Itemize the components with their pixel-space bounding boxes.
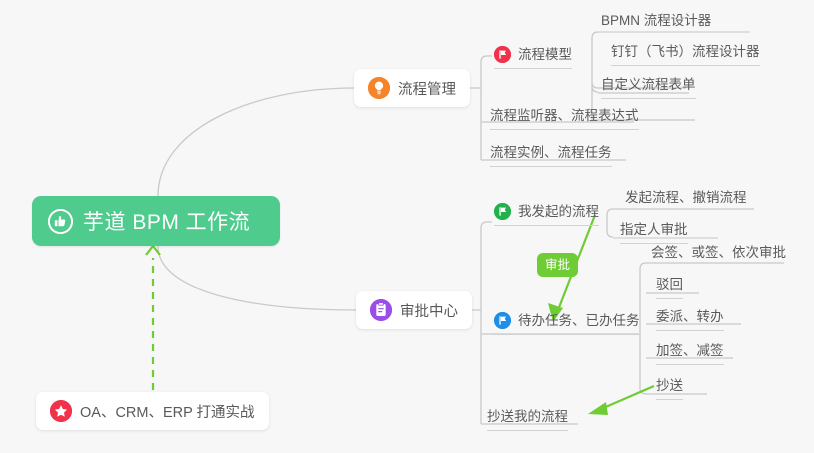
- node-label-wo-faqi: 我发起的流程: [518, 203, 599, 220]
- flag-icon: [494, 312, 511, 329]
- branch-node-liucheng-guanli[interactable]: 流程管理: [354, 69, 470, 107]
- node-liucheng-shili[interactable]: 流程实例、流程任务: [490, 144, 612, 167]
- node-label-liucheng-shili: 流程实例、流程任务: [490, 145, 612, 160]
- leaf-label-huiqian: 会签、或签、依次审批: [651, 245, 786, 260]
- leaf-bohui[interactable]: 驳回: [656, 276, 683, 299]
- node-daiban-renwu[interactable]: 待办任务、已办任务: [494, 312, 640, 335]
- leaf-label-bpmn-designer: BPMN 流程设计器: [601, 13, 711, 28]
- branch-node-shenpi-zhongxin[interactable]: 审批中心: [356, 291, 472, 329]
- thumbs-up-icon: [48, 209, 73, 234]
- link-spzx-to-wofaqi: [481, 222, 492, 228]
- leaf-label-bohui: 驳回: [656, 277, 683, 292]
- flag-icon: [494, 203, 511, 220]
- node-label-daiban-renwu: 待办任务、已办任务: [518, 312, 640, 329]
- approval-badge: 审批: [537, 253, 578, 277]
- arrow-chaosong-flow: [588, 386, 654, 415]
- star-icon: [50, 400, 72, 422]
- lightbulb-icon: [368, 77, 390, 99]
- footer-node-label: OA、CRM、ERP 打通实战: [80, 401, 255, 422]
- leaf-custom-form[interactable]: 自定义流程表单: [601, 76, 696, 99]
- leaf-label-zhiding-ren-shenpi: 指定人审批: [620, 222, 688, 237]
- link-root-to-liucheng-guanli: [158, 88, 354, 196]
- branch-label-liucheng-guanli: 流程管理: [398, 78, 456, 99]
- leaf-label-dingtalk-designer: 钉钉（飞书）流程设计器: [611, 44, 760, 59]
- root-label: 芋道 BPM 工作流: [83, 206, 250, 236]
- link-lcgl-to-moxing: [481, 56, 492, 62]
- link-root-to-shenpi-zhongxin: [158, 246, 356, 310]
- link-daiban-spine: [640, 263, 646, 394]
- node-label-chaosong-wode: 抄送我的流程: [487, 409, 568, 424]
- link-moxing-mid: [592, 82, 598, 92]
- leaf-chaosong[interactable]: 抄送: [656, 377, 683, 400]
- node-label-liucheng-moxing: 流程模型: [518, 46, 572, 63]
- leaf-dingtalk-designer[interactable]: 钉钉（飞书）流程设计器: [611, 43, 760, 66]
- leaf-weipai-zhuanban[interactable]: 委派、转办: [656, 308, 724, 331]
- node-label-liucheng-jiantingqi: 流程监听器、流程表达式: [490, 108, 639, 123]
- link-wofaqi-spine: [607, 209, 613, 237]
- leaf-label-weipai-zhuanban: 委派、转办: [656, 309, 724, 324]
- branch-label-shenpi-zhongxin: 审批中心: [400, 300, 458, 321]
- leaf-label-custom-form: 自定义流程表单: [601, 77, 696, 92]
- arrow-oa-to-root: [146, 246, 160, 390]
- approval-badge-label: 审批: [545, 258, 570, 272]
- leaf-faqi-chexiao[interactable]: 发起流程、撤销流程: [625, 189, 747, 211]
- leaf-huiqian[interactable]: 会签、或签、依次审批: [651, 244, 786, 266]
- leaf-label-jiaqian-jianqian: 加签、减签: [656, 343, 724, 358]
- clipboard-icon: [370, 299, 392, 321]
- mindmap-canvas: 芋道 BPM 工作流 流程管理 流程模型 BPMN 流程设计器 钉钉（飞书: [0, 0, 814, 453]
- leaf-zhiding-ren-shenpi[interactable]: 指定人审批: [620, 221, 688, 244]
- leaf-jiaqian-jianqian[interactable]: 加签、减签: [656, 342, 724, 365]
- root-node[interactable]: 芋道 BPM 工作流: [32, 196, 280, 246]
- flag-icon: [494, 46, 511, 63]
- footer-node-oa-crm-erp[interactable]: OA、CRM、ERP 打通实战: [36, 392, 269, 430]
- node-liucheng-moxing[interactable]: 流程模型: [494, 46, 572, 69]
- node-liucheng-jiantingqi[interactable]: 流程监听器、流程表达式: [490, 107, 639, 130]
- node-wo-faqi[interactable]: 我发起的流程: [494, 203, 599, 226]
- leaf-label-faqi-chexiao: 发起流程、撤销流程: [625, 190, 747, 205]
- leaf-bpmn-designer[interactable]: BPMN 流程设计器: [601, 12, 711, 34]
- node-chaosong-wode[interactable]: 抄送我的流程: [487, 408, 568, 431]
- leaf-label-chaosong: 抄送: [656, 378, 683, 393]
